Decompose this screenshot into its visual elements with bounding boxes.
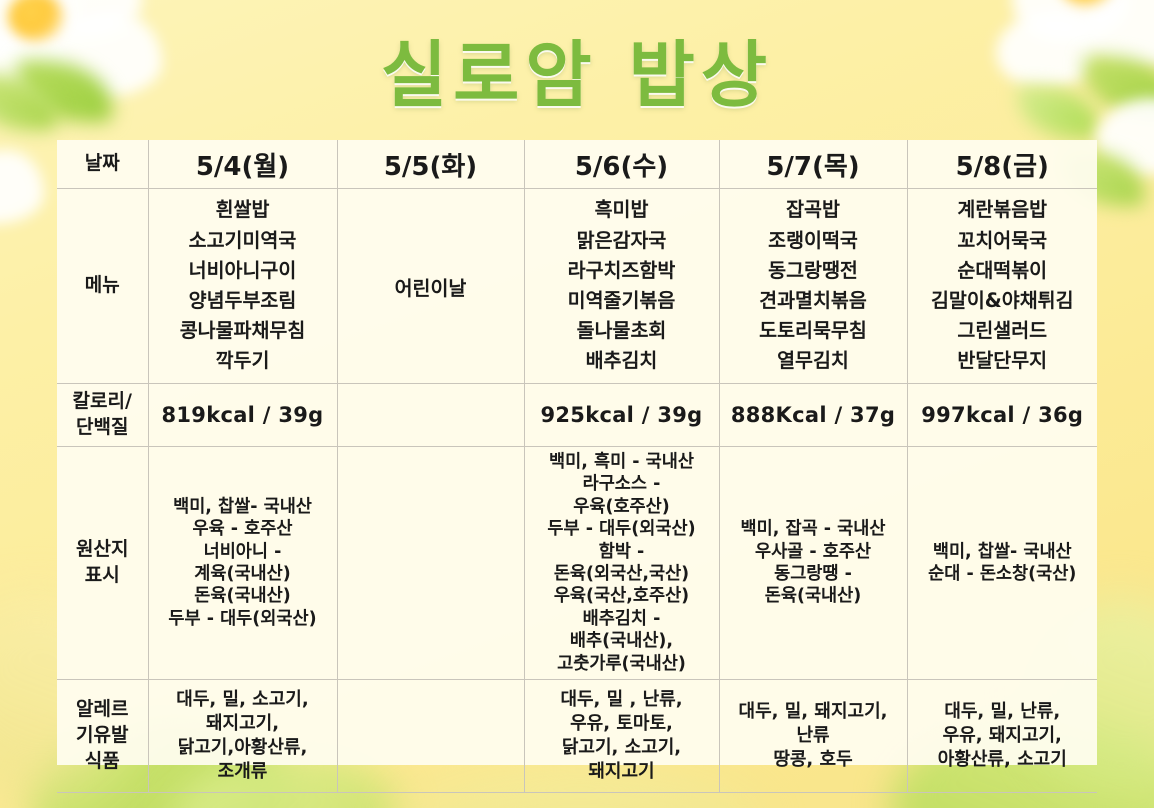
- cell-menu-tue: 어린이날: [337, 189, 524, 384]
- cell-origin-mon: 백미, 찹쌀- 국내산 우육 - 호주산 너비아니 - 계육(국내산) 돈육(국…: [148, 447, 337, 680]
- table-row-note: ※ 상기 메뉴는 물품 수급사정에 따라 변경될 수 있으며, 칼로리 및 단백…: [57, 792, 1097, 808]
- cell-menu-fri: 계란볶음밥 꼬치어묵국 순대떡볶이 김말이&야채튀김 그린샐러드 반달단무지: [907, 189, 1097, 384]
- header-row-label: 날짜: [57, 140, 148, 189]
- cell-menu-thu: 잡곡밥 조랭이떡국 동그랑땡전 견과멸치볶음 도토리묵무침 열무김치: [719, 189, 907, 384]
- cell-menu-wed: 흑미밥 맑은감자국 라구치즈함박 미역줄기볶음 돌나물초회 배추김치: [524, 189, 719, 384]
- cell-calories-tue: [337, 384, 524, 447]
- cell-allergy-fri: 대두, 밀, 난류, 우유, 돼지고기, 아황산류, 소고기: [907, 679, 1097, 792]
- flower-center-icon: [1058, 0, 1116, 6]
- row-label-calories: 칼로리/ 단백질: [57, 384, 148, 447]
- table-row-origin: 원산지 표시 백미, 찹쌀- 국내산 우육 - 호주산 너비아니 - 계육(국내…: [57, 447, 1097, 680]
- cell-origin-fri: 백미, 찹쌀- 국내산 순대 - 돈소창(국산): [907, 447, 1097, 680]
- row-label-allergy: 알레르 기유발 식품: [57, 679, 148, 792]
- flower-petal-icon: [0, 150, 44, 224]
- header-day-tue: 5/5(화): [337, 140, 524, 189]
- table-row-menu: 메뉴 흰쌀밥 소고기미역국 너비아니구이 양념두부조림 콩나물파채무침 깍두기 …: [57, 189, 1097, 384]
- weekly-menu-table: 날짜 5/4(월) 5/5(화) 5/6(수) 5/7(목) 5/8(금) 메뉴…: [57, 140, 1097, 808]
- row-label-menu: 메뉴: [57, 189, 148, 384]
- cell-menu-mon: 흰쌀밥 소고기미역국 너비아니구이 양념두부조림 콩나물파채무침 깍두기: [148, 189, 337, 384]
- cell-calories-mon: 819kcal / 39g: [148, 384, 337, 447]
- menu-card: 날짜 5/4(월) 5/5(화) 5/6(수) 5/7(목) 5/8(금) 메뉴…: [57, 140, 1097, 765]
- cell-calories-fri: 997kcal / 36g: [907, 384, 1097, 447]
- header-day-thu: 5/7(목): [719, 140, 907, 189]
- cell-allergy-tue: [337, 679, 524, 792]
- table-row-allergy: 알레르 기유발 식품 대두, 밀, 소고기, 돼지고기, 닭고기,아황산류, 조…: [57, 679, 1097, 792]
- row-label-origin: 원산지 표시: [57, 447, 148, 680]
- page-title: 실로암 밥상: [0, 16, 1154, 121]
- cell-allergy-mon: 대두, 밀, 소고기, 돼지고기, 닭고기,아황산류, 조개류: [148, 679, 337, 792]
- header-day-mon: 5/4(월): [148, 140, 337, 189]
- cell-origin-thu: 백미, 잡곡 - 국내산 우사골 - 호주산 동그랑땡 - 돈육(국내산): [719, 447, 907, 680]
- cell-origin-tue: [337, 447, 524, 680]
- header-day-fri: 5/8(금): [907, 140, 1097, 189]
- footer-note: ※ 상기 메뉴는 물품 수급사정에 따라 변경될 수 있으며, 칼로리 및 단백…: [57, 792, 1097, 808]
- cell-calories-thu: 888Kcal / 37g: [719, 384, 907, 447]
- table-row-calories: 칼로리/ 단백질 819kcal / 39g 925kcal / 39g 888…: [57, 384, 1097, 447]
- cell-allergy-wed: 대두, 밀 , 난류, 우유, 토마토, 닭고기, 소고기, 돼지고기: [524, 679, 719, 792]
- table-header-row: 날짜 5/4(월) 5/5(화) 5/6(수) 5/7(목) 5/8(금): [57, 140, 1097, 189]
- cell-origin-wed: 백미, 흑미 - 국내산 라구소스 - 우육(호주산) 두부 - 대두(외국산)…: [524, 447, 719, 680]
- menu-poster: 실로암 밥상 날짜 5/4(월) 5/5(화) 5/6(수) 5/7(목) 5/…: [0, 0, 1154, 808]
- cell-calories-wed: 925kcal / 39g: [524, 384, 719, 447]
- cell-allergy-thu: 대두, 밀, 돼지고기, 난류 땅콩, 호두: [719, 679, 907, 792]
- header-day-wed: 5/6(수): [524, 140, 719, 189]
